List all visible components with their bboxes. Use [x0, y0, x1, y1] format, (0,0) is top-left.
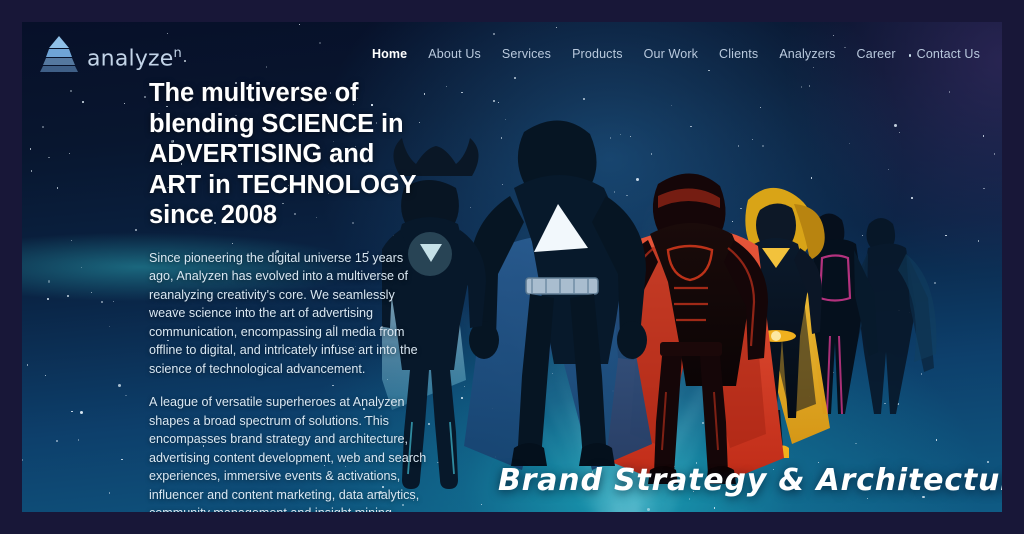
star-particle — [80, 411, 83, 414]
star-particle — [30, 148, 31, 149]
nav-link-career[interactable]: Career — [857, 47, 896, 61]
nav-link-services[interactable]: Services — [502, 47, 551, 61]
page-title: The multiverse of blending SCIENCE in AD… — [149, 78, 427, 231]
star-particle — [81, 267, 82, 268]
nav-link-about-us[interactable]: About Us — [428, 47, 481, 61]
hero-figure-central-leader — [464, 120, 652, 470]
brand-logo[interactable]: analyzen — [38, 34, 182, 74]
nav-link-clients[interactable]: Clients — [719, 47, 758, 61]
star-particle — [82, 101, 84, 103]
hero-paragraph-one: Since pioneering the digital universe 15… — [149, 249, 427, 379]
star-particle — [47, 298, 48, 299]
nav-bullet-dot-icon — [909, 54, 912, 57]
star-particle — [135, 229, 137, 231]
star-particle — [109, 492, 110, 493]
star-particle — [124, 103, 125, 104]
star-particle — [71, 240, 72, 241]
star-particle — [113, 301, 114, 302]
hero-section: analyzen HomeAbout UsServicesProductsOur… — [22, 22, 1002, 512]
page-root: analyzen HomeAbout UsServicesProductsOur… — [0, 0, 1024, 534]
star-particle — [42, 126, 44, 128]
hero-tagline: Brand Strategy & Architecture — [498, 463, 1002, 498]
brand-name-text: analyze — [87, 46, 174, 71]
star-particle — [70, 90, 72, 92]
pyramid-logo-icon — [38, 34, 80, 74]
nav-links-list: HomeAbout UsServicesProductsOur WorkClie… — [372, 47, 980, 61]
nav-link-analyzers[interactable]: Analyzers — [779, 47, 835, 61]
nav-link-products[interactable]: Products — [572, 47, 623, 61]
nav-link-contact-us[interactable]: Contact Us — [917, 47, 980, 61]
star-particle — [101, 301, 103, 303]
star-particle — [118, 384, 121, 387]
star-particle — [78, 439, 79, 440]
star-particle — [69, 153, 70, 154]
star-particle — [48, 280, 50, 282]
hero-paragraph-two: A league of versatile superheroes at Ana… — [149, 393, 427, 512]
star-particle — [48, 157, 49, 158]
star-particle — [144, 96, 146, 98]
star-particle — [27, 364, 28, 365]
star-particle — [31, 170, 32, 171]
star-particle — [121, 459, 122, 460]
star-particle — [125, 395, 126, 396]
brand-superscript-text: n — [174, 46, 182, 61]
main-navigation-bar: analyzen HomeAbout UsServicesProductsOur… — [22, 22, 1002, 86]
star-particle — [91, 292, 92, 293]
star-particle — [45, 375, 46, 376]
star-particle — [801, 86, 802, 87]
star-particle — [22, 459, 23, 460]
nav-link-home[interactable]: Home — [372, 47, 407, 61]
brand-wordmark: analyzen — [87, 47, 182, 74]
nav-link-our-work[interactable]: Our Work — [644, 47, 698, 61]
hero-copy-column: The multiverse of blending SCIENCE in AD… — [149, 78, 427, 512]
superhero-artwork — [382, 92, 1002, 512]
star-particle — [56, 440, 58, 442]
star-particle — [67, 295, 68, 296]
star-particle — [57, 187, 58, 188]
star-particle — [109, 326, 110, 327]
star-particle — [71, 411, 72, 412]
